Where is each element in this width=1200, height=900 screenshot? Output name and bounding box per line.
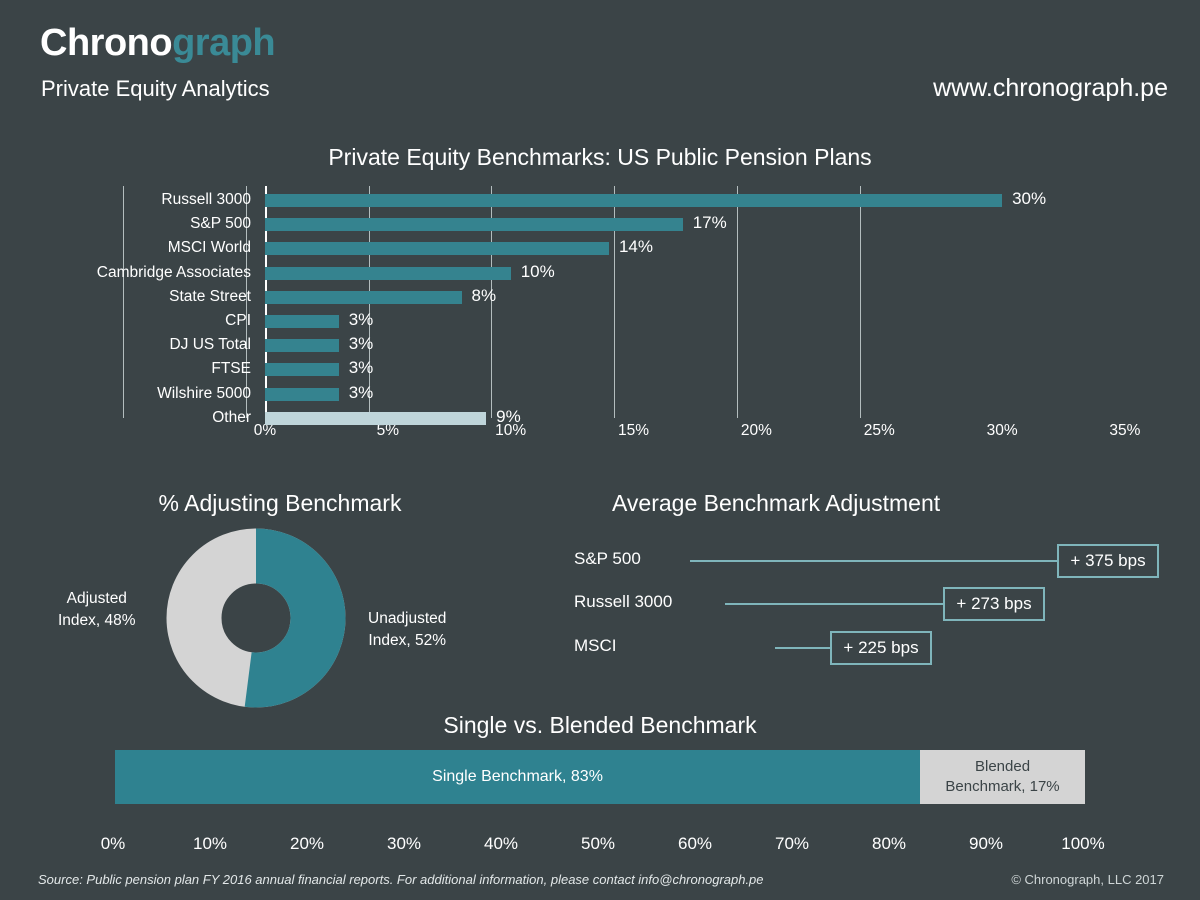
brand-logo: Chronograph <box>40 24 275 62</box>
sb-tick-label: 60% <box>678 834 712 854</box>
sb-tick-label: 30% <box>387 834 421 854</box>
adjustment-category-label: MSCI <box>574 636 617 656</box>
bar <box>265 315 339 328</box>
segment-blended-line1: Blended <box>945 757 1059 777</box>
sb-tick-label: 0% <box>101 834 126 854</box>
sb-tick-label: 50% <box>581 834 615 854</box>
x-tick-label: 15% <box>618 422 649 440</box>
bar <box>265 291 462 304</box>
bar <box>265 388 339 401</box>
gridline <box>737 186 738 418</box>
donut-svg <box>166 528 346 708</box>
bar <box>265 267 511 280</box>
bar-value-label: 17% <box>693 213 727 233</box>
donut-label-unadjusted: Unadjusted Index, 52% <box>368 608 446 653</box>
donut-label-adjusted-line1: Adjusted <box>58 588 136 610</box>
donut-label-unadjusted-line2: Index, 52% <box>368 630 446 652</box>
sb-tick-label: 10% <box>193 834 227 854</box>
sb-tick-label: 70% <box>775 834 809 854</box>
x-tick-label: 25% <box>864 422 895 440</box>
segment-blended-benchmark: Blended Benchmark, 17% <box>920 750 1085 804</box>
adjustment-leader-line <box>690 560 1057 562</box>
category-label: S&P 500 <box>190 215 251 233</box>
x-tick-label: 30% <box>987 422 1018 440</box>
adjustment-category-label: S&P 500 <box>574 549 641 569</box>
category-label: Cambridge Associates <box>97 264 251 282</box>
bar <box>265 242 609 255</box>
sb-tick-label: 100% <box>1061 834 1104 854</box>
bar <box>265 412 486 425</box>
x-tick-label: 35% <box>1109 422 1140 440</box>
adjustment-leader-line <box>725 603 943 605</box>
donut-label-adjusted: Adjusted Index, 48% <box>58 588 136 633</box>
category-label: Wilshire 5000 <box>157 385 251 403</box>
category-label: MSCI World <box>168 239 251 257</box>
adjustment-leader-line <box>775 647 830 649</box>
single-blended-bar: Single Benchmark, 83% Blended Benchmark,… <box>115 750 1085 804</box>
adjustment-value-box: + 273 bps <box>943 587 1045 621</box>
gridline <box>123 186 124 418</box>
single-blended-title: Single vs. Blended Benchmark <box>0 712 1200 739</box>
adjustment-category-label: Russell 3000 <box>574 592 672 612</box>
bar <box>265 218 683 231</box>
sb-tick-label: 20% <box>290 834 324 854</box>
adjustment-value-box: + 225 bps <box>830 631 932 665</box>
segment-single-benchmark: Single Benchmark, 83% <box>115 750 920 804</box>
x-tick-label: 20% <box>741 422 772 440</box>
gridline <box>860 186 861 418</box>
bar-value-label: 3% <box>349 334 374 354</box>
sb-tick-label: 40% <box>484 834 518 854</box>
category-label: Russell 3000 <box>161 191 251 209</box>
bar-value-label: 9% <box>496 407 521 427</box>
category-label: Other <box>212 409 251 427</box>
website-url: www.chronograph.pe <box>933 74 1168 103</box>
bar <box>265 339 339 352</box>
brand-name-accent: graph <box>172 22 275 64</box>
infographic-page: Chronograph Private Equity Analytics www… <box>0 0 1200 900</box>
sb-tick-label: 80% <box>872 834 906 854</box>
donut-chart-title: % Adjusting Benchmark <box>0 490 560 517</box>
copyright-note: © Chronograph, LLC 2017 <box>1011 872 1164 887</box>
category-label: FTSE <box>211 360 251 378</box>
donut-chart <box>166 528 346 708</box>
bar-value-label: 30% <box>1012 189 1046 209</box>
brand-tagline: Private Equity Analytics <box>41 76 270 102</box>
bar-value-label: 3% <box>349 383 374 403</box>
bar <box>265 363 339 376</box>
bar-value-label: 3% <box>349 358 374 378</box>
adjustment-value-box: + 375 bps <box>1057 544 1159 578</box>
donut-label-unadjusted-line1: Unadjusted <box>368 608 446 630</box>
benchmarks-chart-title: Private Equity Benchmarks: US Public Pen… <box>0 144 1200 171</box>
benchmarks-chart: Russell 3000S&P 500MSCI WorldCambridge A… <box>0 186 1200 456</box>
brand-name-primary: Chrono <box>40 22 172 64</box>
category-label: State Street <box>169 288 251 306</box>
bar-value-label: 8% <box>472 286 497 306</box>
source-note: Source: Public pension plan FY 2016 annu… <box>38 872 764 887</box>
segment-blended-line2: Benchmark, 17% <box>945 777 1059 797</box>
donut-label-adjusted-line2: Index, 48% <box>58 610 136 632</box>
bar-value-label: 10% <box>521 262 555 282</box>
bar-value-label: 3% <box>349 310 374 330</box>
bar-value-label: 14% <box>619 237 653 257</box>
sb-tick-label: 90% <box>969 834 1003 854</box>
category-label: CPI <box>225 312 251 330</box>
adjustment-chart-title: Average Benchmark Adjustment <box>612 490 940 517</box>
category-label: DJ US Total <box>169 336 251 354</box>
bar <box>265 194 1002 207</box>
